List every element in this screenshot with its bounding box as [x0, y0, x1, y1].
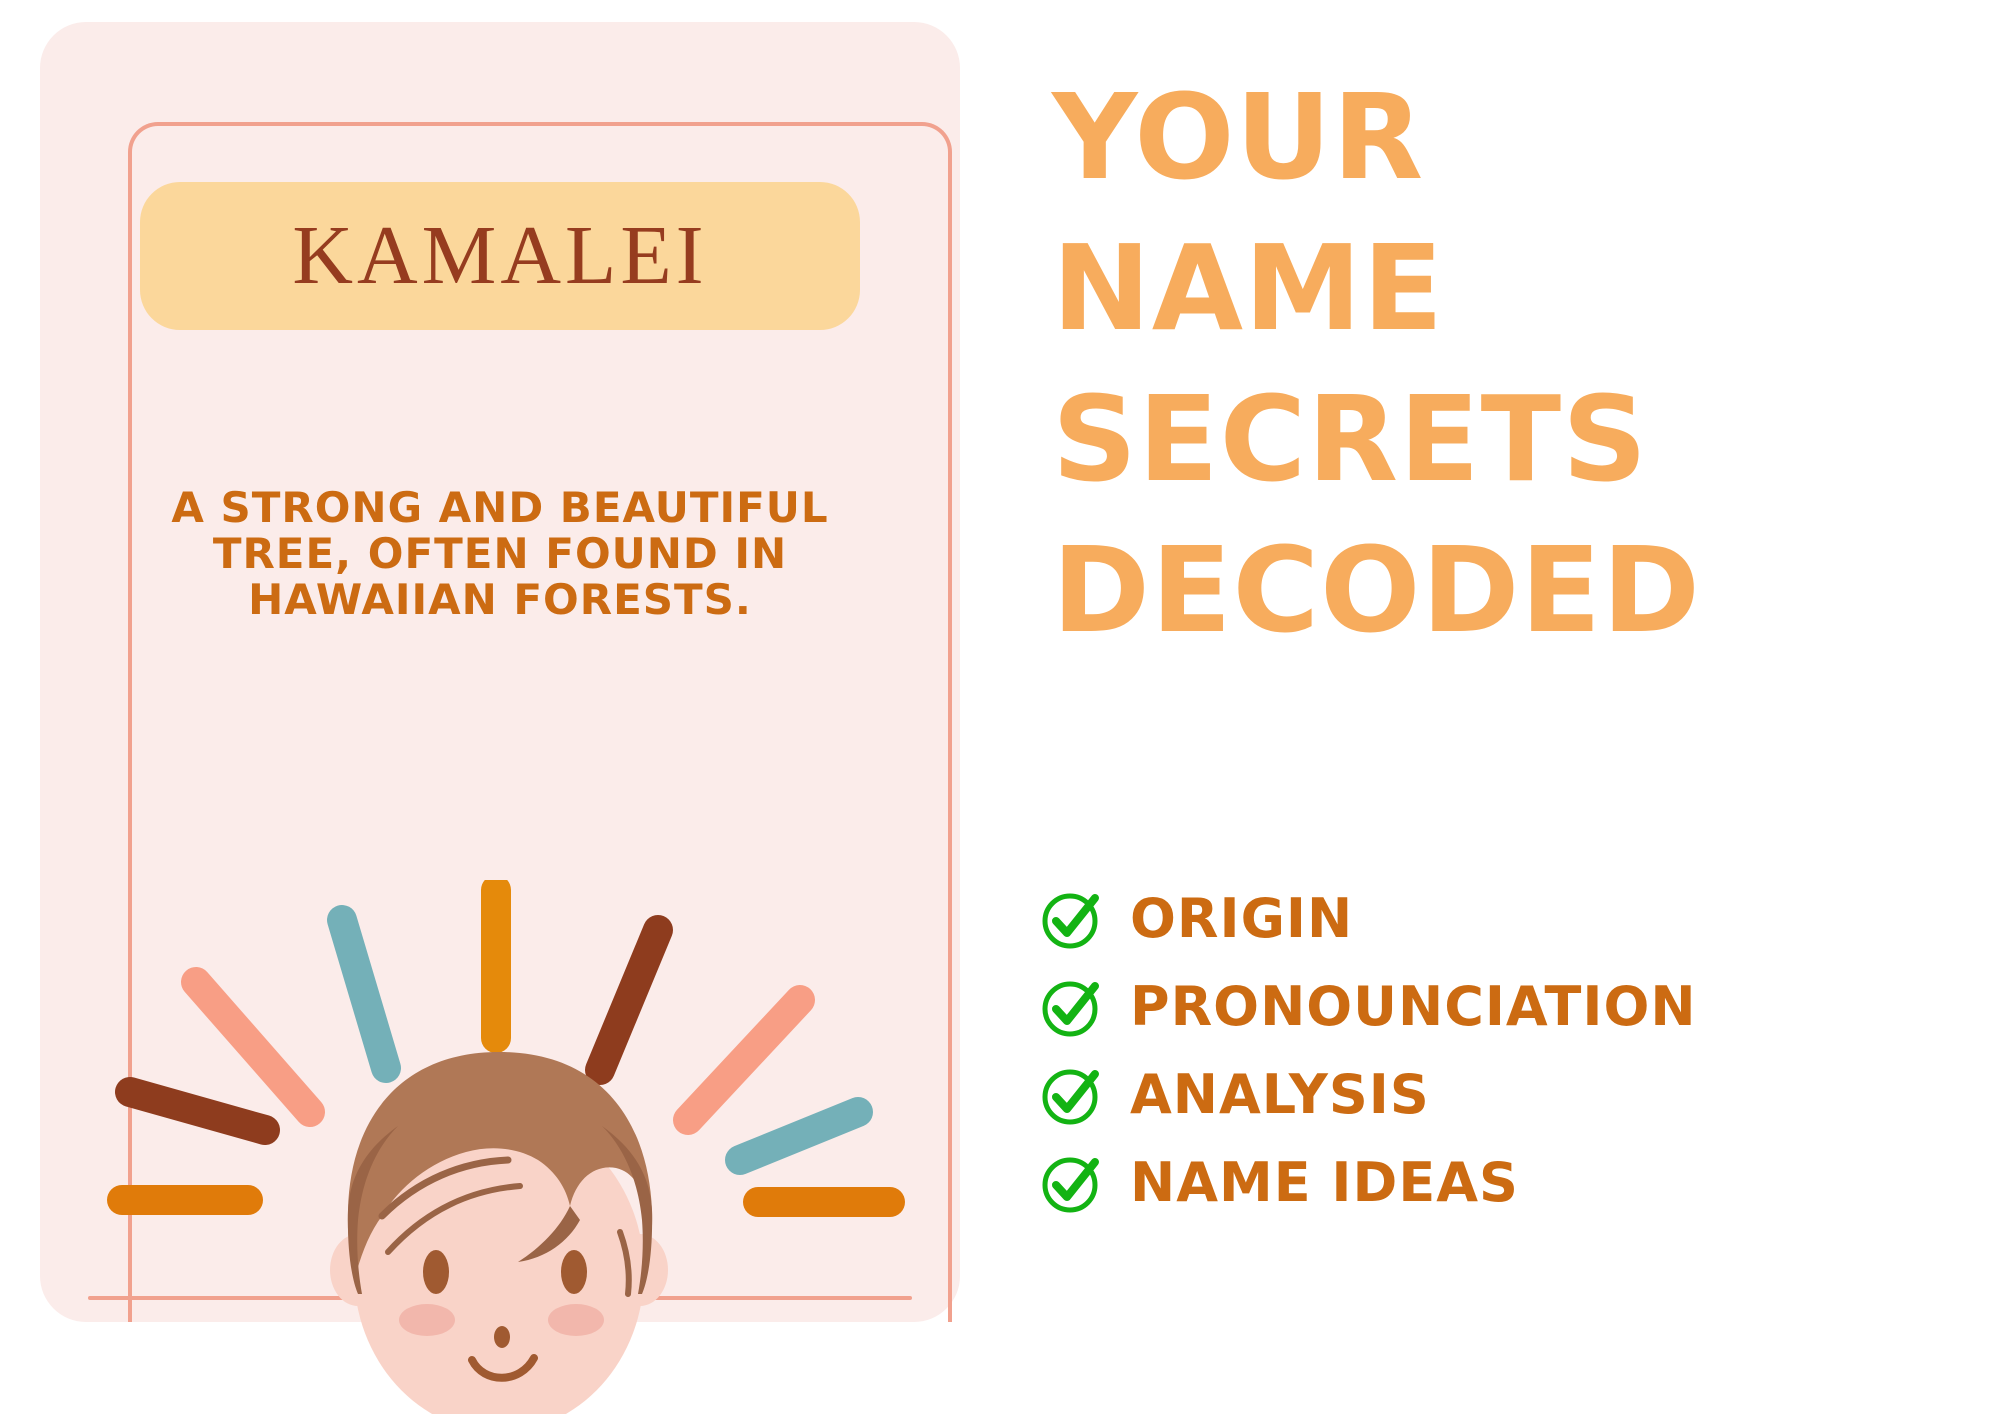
- headline-block: YOUR NAME SECRETS DECODED: [1052, 62, 1952, 666]
- name-banner-label: KAMALEI: [292, 214, 707, 298]
- check-circle-icon: [1040, 1063, 1104, 1127]
- check-circle-icon: [1040, 1151, 1104, 1215]
- headline-line-2: NAME: [1052, 213, 1952, 364]
- cheek-left: [399, 1304, 455, 1336]
- checklist-item-label: NAME IDEAS: [1130, 1156, 1519, 1210]
- cheek-right: [548, 1304, 604, 1336]
- boy-face-with-sunburst-illustration: [100, 880, 920, 1414]
- headline-line-3: SECRETS: [1052, 364, 1952, 515]
- headline-line-1: YOUR: [1052, 62, 1952, 213]
- checklist-item-analysis[interactable]: ANALYSIS: [1040, 1054, 1960, 1136]
- feature-checklist: ORIGIN PRONOUNCIATION ANALYSIS NAME IDEA…: [1040, 878, 1960, 1230]
- name-banner: KAMALEI: [140, 182, 860, 330]
- ray-salmon-right-mid: [688, 1000, 800, 1120]
- checklist-item-label: ORIGIN: [1130, 892, 1353, 946]
- nose: [494, 1326, 510, 1348]
- check-circle-icon: [1040, 975, 1104, 1039]
- ray-teal-left-high: [342, 920, 386, 1068]
- eye-right: [561, 1250, 587, 1294]
- ray-teal-right-low: [740, 1112, 858, 1160]
- checklist-item-origin[interactable]: ORIGIN: [1040, 878, 1960, 960]
- headline-line-4: DECODED: [1052, 515, 1952, 666]
- ray-salmon-left-mid: [196, 982, 310, 1112]
- ray-brown-right-high: [600, 930, 658, 1070]
- eye-left: [423, 1250, 449, 1294]
- boy-head: [330, 1052, 668, 1414]
- check-circle-icon: [1040, 887, 1104, 951]
- checklist-item-label: PRONOUNCIATION: [1130, 980, 1697, 1034]
- checklist-item-pronounciation[interactable]: PRONOUNCIATION: [1040, 966, 1960, 1048]
- ray-brown-left-low: [130, 1092, 265, 1130]
- checklist-item-label: ANALYSIS: [1130, 1068, 1430, 1122]
- checklist-item-name-ideas[interactable]: NAME IDEAS: [1040, 1142, 1960, 1224]
- name-description-text: A STRONG AND BEAUTIFUL TREE, OFTEN FOUND…: [140, 485, 860, 624]
